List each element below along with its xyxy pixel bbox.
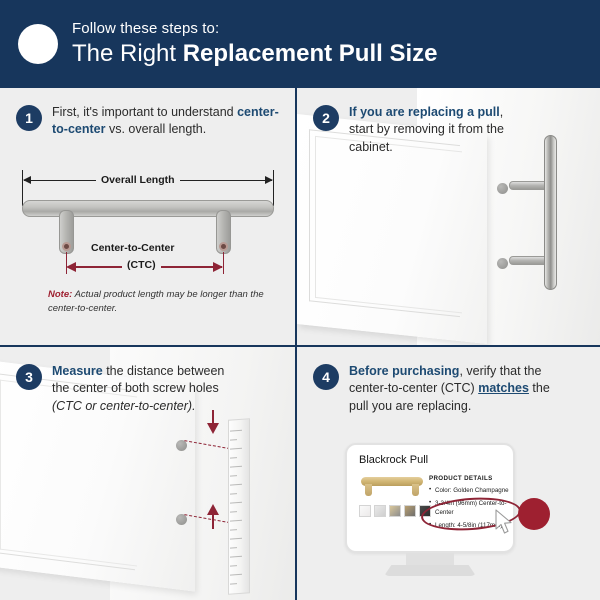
step-2-text-a: If you are replacing a pull (349, 105, 500, 119)
screw-hole-left-icon (62, 242, 71, 251)
monitor-base (384, 565, 476, 576)
mouse-cursor-icon (495, 509, 515, 535)
step-number-badge-1: 1 (16, 105, 42, 131)
step-panel-3: 3 Measure the distance between the cente… (0, 347, 295, 600)
exclamation-badge-icon (18, 24, 58, 64)
screw-hole-bottom-2 (497, 258, 508, 269)
pull-post-right (216, 210, 231, 254)
header-banner: Follow these steps to: The Right Replace… (0, 0, 600, 88)
monitor-illustration: Blackrock Pull PRODUCT DETAILS (345, 443, 515, 583)
step-4-text-matches-link[interactable]: matches (478, 381, 529, 395)
step-number-badge-2: 2 (313, 105, 339, 131)
step-2-text: If you are replacing a pull, start by re… (349, 104, 514, 156)
thumbnail-2[interactable] (374, 505, 386, 517)
step-panel-2: 2 If you are replacing a pull, start by … (297, 88, 600, 345)
step-4-text: Before purchasing, verify that the cente… (349, 363, 567, 415)
ctc-label-line1: Center-to-Center (86, 242, 179, 254)
step-3-text-c: (CTC or center-to-center). (52, 399, 196, 413)
thumbnail-4[interactable] (404, 505, 416, 517)
thumbnail-1[interactable] (359, 505, 371, 517)
measure-arrow-stem-bottom (212, 515, 214, 529)
step-panel-4: 4 Before purchasing, verify that the cen… (297, 347, 600, 600)
screw-hole-top-2 (497, 183, 508, 194)
step-4-text-a: Before purchasing (349, 364, 459, 378)
step-3-text-a: Measure (52, 364, 103, 378)
ruler (228, 418, 250, 595)
infographic-page: Follow these steps to: The Right Replace… (0, 0, 600, 600)
note-label: Note: (48, 289, 72, 300)
alert-circle-icon (518, 498, 550, 530)
title-bold-part: Replacement Pull Size (183, 40, 438, 67)
product-page-card: Blackrock Pull PRODUCT DETAILS (345, 443, 515, 553)
screw-hole-bottom-3 (176, 514, 187, 525)
step-4-head: 4 Before purchasing, verify that the cen… (313, 363, 590, 415)
step-3-text: Measure the distance between the center … (52, 363, 232, 415)
header-text-block: Follow these steps to: The Right Replace… (72, 21, 437, 68)
note-text: Actual product length may be longer than… (48, 289, 264, 314)
door-panel-border-inner-2 (315, 136, 462, 313)
overall-length-label: Overall Length (96, 174, 180, 186)
ctc-arrow-right-icon (213, 262, 223, 272)
pull-dimension-diagram: Overall Length Center-to-Center (CTC) (18, 166, 278, 276)
ctc-arrow-left-icon (66, 262, 76, 272)
page-title: The Right Replacement Pull Size (72, 41, 437, 67)
step-1-head: 1 First, it's important to understand ce… (16, 104, 285, 139)
step-1-text-a: First, it's important to understand (52, 105, 237, 119)
product-image (361, 475, 423, 497)
title-light-part: The Right (72, 40, 183, 67)
pull-post-left (59, 210, 74, 254)
overall-arrow-left-icon (23, 176, 31, 184)
screw-hole-top-3 (176, 440, 187, 451)
step-1-text-c: vs. overall length. (105, 122, 206, 136)
thumbnail-3[interactable] (389, 505, 401, 517)
step-1-text: First, it's important to understand cent… (52, 104, 285, 139)
bar-pull-2 (544, 135, 557, 290)
pull-leg-top-2 (509, 181, 549, 190)
step-panel-1: 1 First, it's important to understand ce… (0, 88, 295, 345)
steps-grid: 1 First, it's important to understand ce… (0, 88, 600, 600)
step-2-head: 2 If you are replacing a pull, start by … (313, 104, 590, 156)
overall-cap-right (273, 170, 274, 206)
step-1-note: Note: Actual product length may be longe… (48, 288, 278, 317)
pull-leg-bottom-2 (509, 256, 549, 265)
step-number-badge-3: 3 (16, 364, 42, 390)
product-detail-color: Color: Golden Champagne (429, 486, 511, 496)
header-kicker: Follow these steps to: (72, 21, 437, 38)
measure-arrow-down-icon (207, 423, 219, 434)
step-number-badge-4: 4 (313, 364, 339, 390)
overall-arrow-right-icon (265, 176, 273, 184)
measure-arrow-up-icon (207, 504, 219, 515)
ctc-label-line2: (CTC) (122, 259, 161, 271)
step-3-head: 3 Measure the distance between the cente… (16, 363, 285, 415)
monitor-neck (406, 553, 454, 567)
product-details-heading: PRODUCT DETAILS (429, 475, 493, 482)
screw-hole-right-icon (219, 242, 228, 251)
product-title: Blackrock Pull (359, 454, 428, 466)
ctc-tick-right (223, 252, 224, 274)
